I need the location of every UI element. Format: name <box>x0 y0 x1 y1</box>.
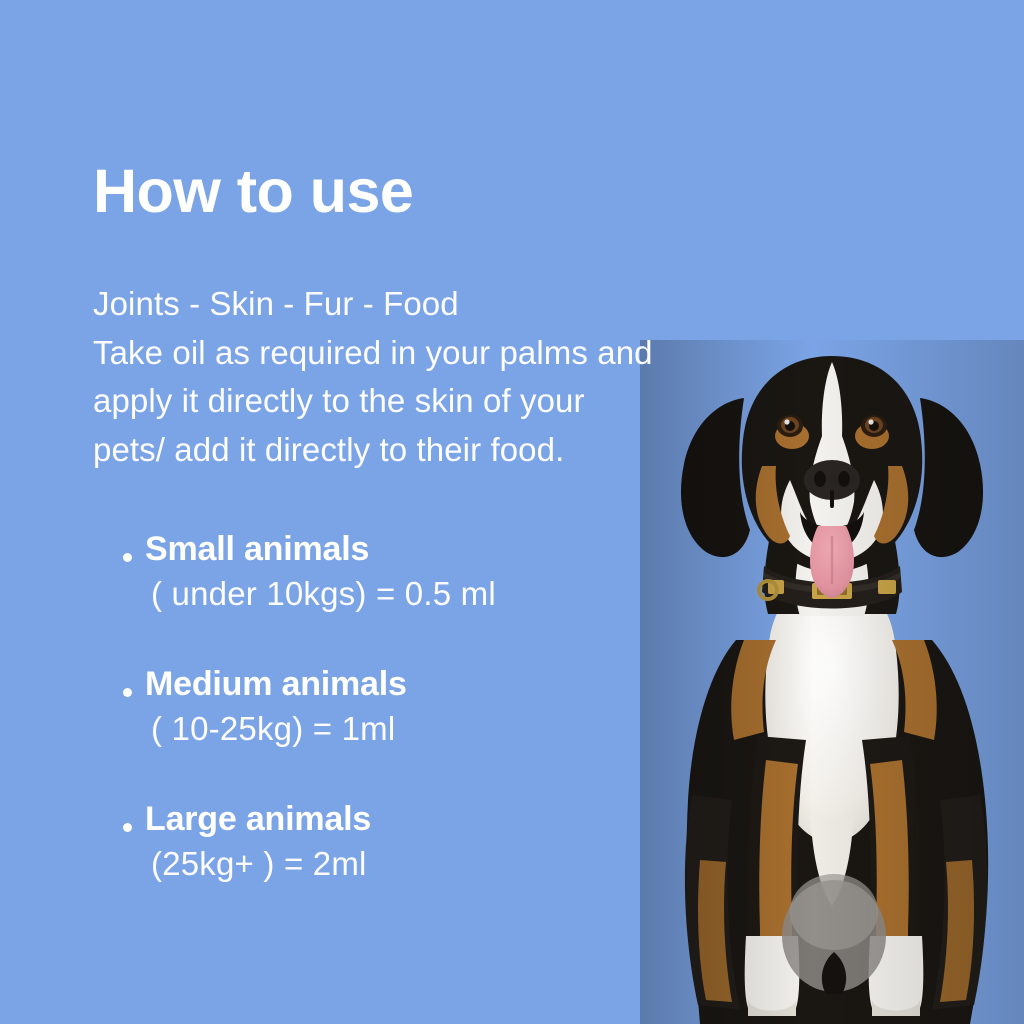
dosage-list: Small animals ( under 10kgs) = 0.5 ml Me… <box>123 527 683 932</box>
dosage-title-large: Large animals <box>145 797 683 841</box>
dosage-title-small: Small animals <box>145 527 683 571</box>
dosage-detail-medium: ( 10-25kg) = 1ml <box>151 708 683 750</box>
intro-line-2: Take oil as required in your palms and <box>93 329 783 378</box>
dosage-title-medium: Medium animals <box>145 662 683 706</box>
list-item: Large animals (25kg+ ) = 2ml <box>123 797 683 932</box>
page-title: How to use <box>93 161 413 222</box>
intro-line-3: apply it directly to the skin of your <box>93 377 783 426</box>
intro-paragraph: Joints - Skin - Fur - Food Take oil as r… <box>93 280 783 474</box>
bullet-dot-icon <box>123 553 132 562</box>
intro-line-1: Joints - Skin - Fur - Food <box>93 280 783 329</box>
bullet-dot-icon <box>123 823 132 832</box>
intro-line-4: pets/ add it directly to their food. <box>93 426 783 475</box>
list-item: Medium animals ( 10-25kg) = 1ml <box>123 662 683 797</box>
dosage-detail-large: (25kg+ ) = 2ml <box>151 843 683 885</box>
bullet-dot-icon <box>123 688 132 697</box>
poster-canvas: How to use Joints - Skin - Fur - Food Ta… <box>0 0 1024 1024</box>
list-item: Small animals ( under 10kgs) = 0.5 ml <box>123 527 683 662</box>
dosage-detail-small: ( under 10kgs) = 0.5 ml <box>151 573 683 615</box>
